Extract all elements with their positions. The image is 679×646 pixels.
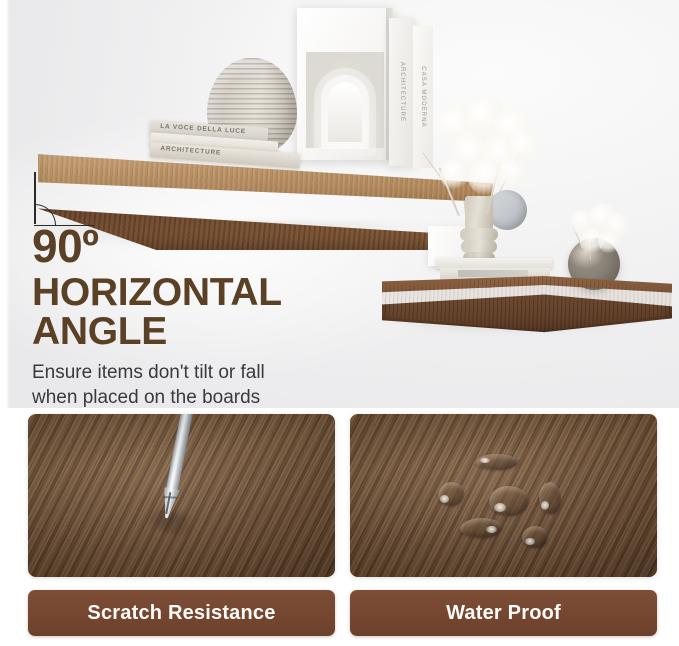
branch-blossom (598, 230, 622, 254)
subtext-line-1: Ensure items don't tilt or fall (32, 360, 412, 385)
feature-panels: Scratch Resistance Water Proof (0, 414, 679, 646)
book-spine-label: ARCHITECTURE (399, 62, 405, 122)
floating-shelf-lower (382, 276, 672, 338)
photo-vignette (350, 414, 657, 577)
hero-section: ARCHITECTURE CASA MODERNA LA VOCE DELLA … (0, 0, 679, 408)
feature-panel-scratch: Scratch Resistance (28, 414, 335, 636)
upright-book-2: CASA MODERNA (413, 26, 433, 168)
right-angle-marker-icon (34, 172, 96, 226)
dried-flower-branch-large (440, 104, 560, 204)
headline-line-2: ANGLE (32, 312, 412, 351)
water-proof-caption-bar: Water Proof (350, 590, 657, 636)
headline-block: 90º HORIZONTAL ANGLE Ensure items don't … (32, 224, 412, 408)
headline-degree: 90º (32, 224, 412, 269)
photo-vignette (28, 414, 335, 577)
branch-blossom (440, 160, 470, 190)
upright-book-1: ARCHITECTURE (389, 18, 415, 166)
scratch-resistance-caption-bar: Scratch Resistance (28, 590, 335, 636)
headline-line-1: HORIZONTAL (32, 273, 412, 312)
dried-flower-branch-small (566, 208, 630, 256)
shelf-wood-grain (38, 150, 493, 202)
wall-left-edge (0, 0, 10, 408)
branch-blossom (498, 160, 528, 190)
subtext-line-2: when placed on the boards (32, 385, 412, 408)
scratch-resistance-label: Scratch Resistance (87, 602, 275, 625)
scratch-resistance-photo (28, 414, 335, 577)
book-spine-label: CASA MODERNA (420, 66, 426, 128)
product-feature-image: ARCHITECTURE CASA MODERNA LA VOCE DELLA … (0, 0, 679, 646)
feature-panel-water: Water Proof (350, 414, 657, 636)
water-proof-photo (350, 414, 657, 577)
headline-subtext: Ensure items don't tilt or fall when pla… (32, 360, 412, 408)
water-proof-label: Water Proof (446, 602, 561, 625)
